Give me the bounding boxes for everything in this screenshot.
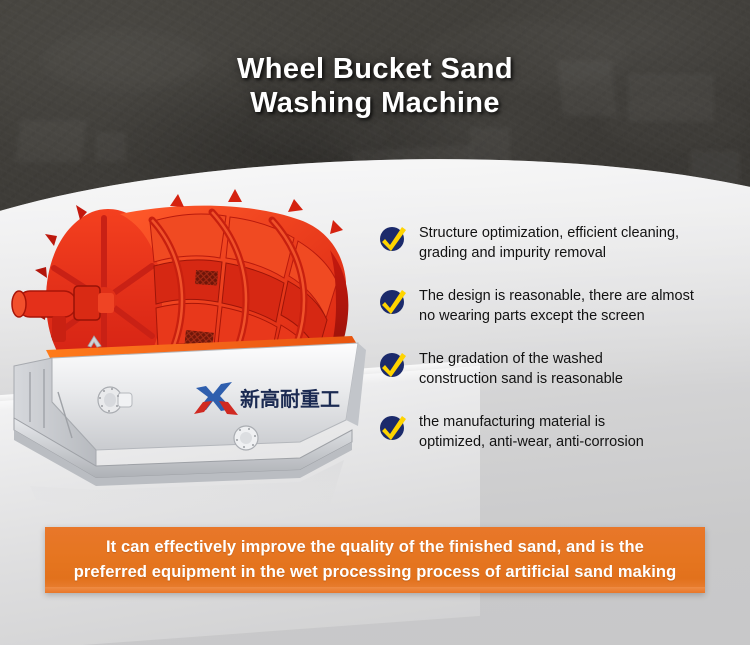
footer-line-1: It can effectively improve the quality o… [74, 535, 677, 560]
footer-callout-banner: It can effectively improve the quality o… [45, 527, 705, 593]
check-circle-icon [378, 349, 408, 379]
feature-line-2: no wearing parts except the screen [419, 308, 645, 324]
list-item: the manufacturing material is optimized,… [378, 411, 738, 452]
list-item: The gradation of the washed construction… [378, 348, 738, 389]
feature-text: the manufacturing material is optimized,… [419, 411, 644, 452]
feature-line-1: the manufacturing material is [419, 414, 605, 430]
page-title: Wheel Bucket Sand Washing Machine [0, 52, 750, 120]
product-banner: Wheel Bucket Sand Washing Machine [0, 0, 750, 645]
machine-illustration: 新高耐重工 [0, 150, 400, 510]
feature-line-1: Structure optimization, efficient cleani… [419, 225, 679, 241]
feature-line-2: construction sand is reasonable [419, 371, 623, 387]
brand-text: 新高耐重工 [240, 387, 340, 411]
feature-line-1: The gradation of the washed [419, 351, 603, 367]
tank-body: 新高耐重工 [14, 336, 366, 466]
flange-bottom [234, 426, 258, 450]
footer-callout-text: It can effectively improve the quality o… [62, 535, 689, 585]
page-title-line-2: Washing Machine [0, 86, 750, 120]
feature-text: Structure optimization, efficient cleani… [419, 222, 679, 263]
list-item: Structure optimization, efficient cleani… [378, 222, 738, 263]
check-circle-icon [378, 286, 408, 316]
check-circle-icon [378, 412, 408, 442]
footer-line-2: preferred equipment in the wet processin… [74, 560, 677, 585]
list-item: The design is reasonable, there are almo… [378, 285, 738, 326]
feature-line-2: optimized, anti-wear, anti-corrosion [419, 434, 644, 450]
page-title-line-1: Wheel Bucket Sand [237, 53, 513, 85]
feature-text: The design is reasonable, there are almo… [419, 285, 694, 326]
check-circle-icon [378, 223, 408, 253]
feature-text: The gradation of the washed construction… [419, 348, 623, 389]
feature-list: Structure optimization, efficient cleani… [378, 222, 738, 452]
feature-line-1: The design is reasonable, there are almo… [419, 288, 694, 304]
feature-line-2: grading and impurity removal [419, 245, 606, 261]
footer-banner-base-strip [45, 587, 705, 593]
